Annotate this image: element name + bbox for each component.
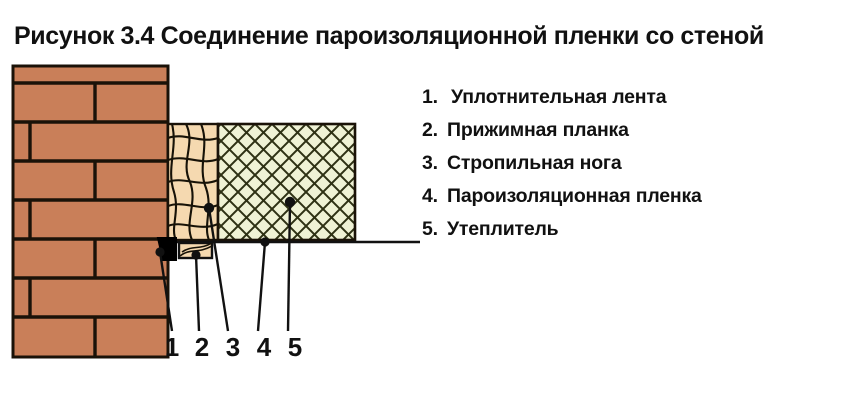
legend-item-5: 5. Утеплитель (422, 218, 832, 251)
legend-label-1: Уплотнительная лента (451, 86, 666, 109)
callout-number-4: 4 (257, 332, 272, 362)
legend-number-1: 1. (422, 86, 447, 109)
legend-item-3: 3. Стропильная нога (422, 152, 832, 185)
callout-number-3: 3 (226, 332, 240, 362)
legend-item-4: 4. Пароизоляционная пленка (422, 185, 832, 218)
legend-label-2: Прижимная планка (447, 119, 629, 142)
legend-label-3: Стропильная нога (447, 152, 621, 175)
legend-item-1: 1. Уплотнительная лента (422, 86, 832, 119)
brick-wall (13, 66, 168, 357)
insulation-layer (218, 124, 355, 240)
legend-number-4: 4. (422, 185, 447, 208)
callout-number-1: 1 (165, 332, 179, 362)
callout-number-5: 5 (288, 332, 302, 362)
legend-number-3: 3. (422, 152, 447, 175)
callout-number-2: 2 (195, 332, 209, 362)
legend-number-2: 2. (422, 119, 447, 142)
figure-title: Рисунок 3.4 Соединение пароизоляционной … (14, 22, 824, 51)
legend-number-5: 5. (422, 218, 447, 241)
legend-item-2: 2. Прижимная планка (422, 119, 832, 152)
legend-label-5: Утеплитель (447, 218, 558, 241)
legend-list: 1. Уплотнительная лента 2. Прижимная пла… (422, 86, 832, 251)
legend-label-4: Пароизоляционная пленка (447, 185, 702, 208)
technical-drawing: 1 2 3 4 5 (0, 56, 420, 386)
figure-root: Рисунок 3.4 Соединение пароизоляционной … (0, 0, 845, 404)
callout-numbers: 1 2 3 4 5 (165, 332, 302, 362)
